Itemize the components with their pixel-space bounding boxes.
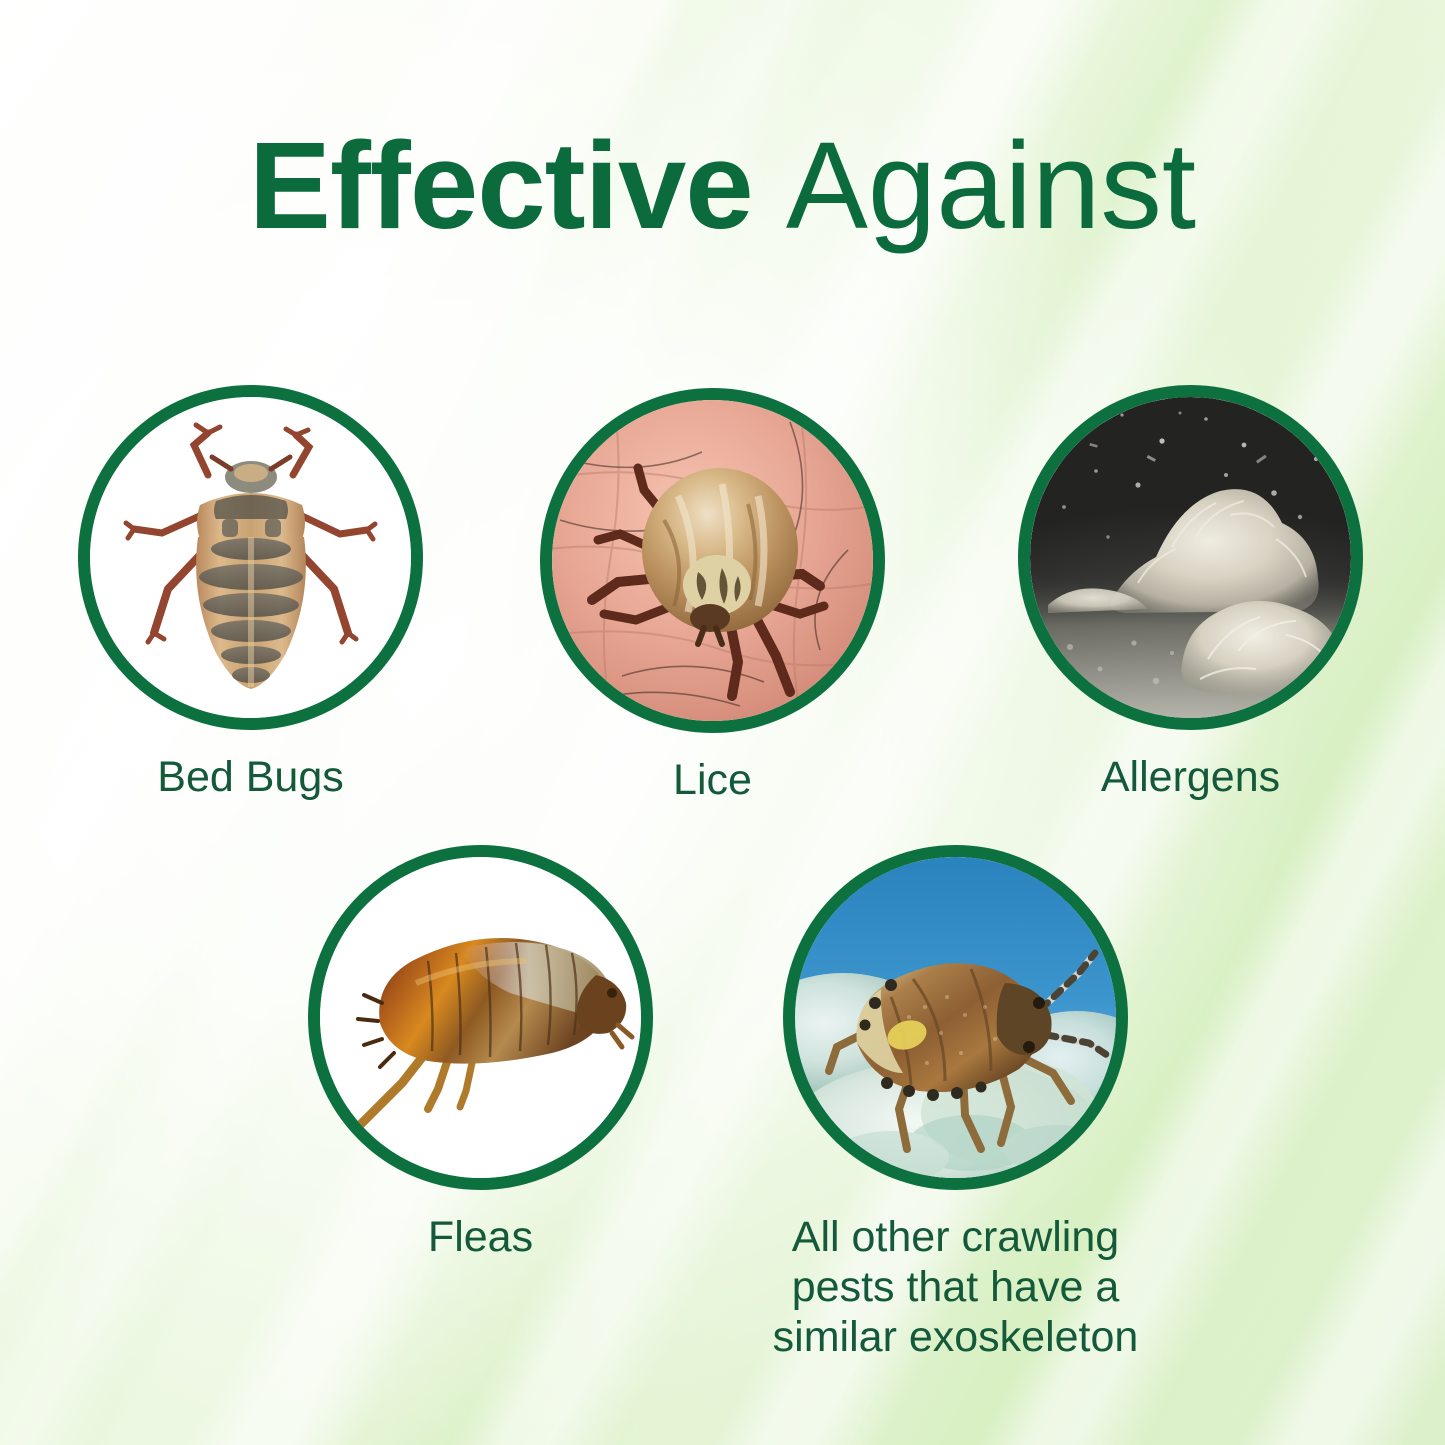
- pest-card-fleas: Fleas: [308, 845, 653, 1190]
- pest-label-fleas: Fleas: [428, 1213, 533, 1263]
- pest-card-allergens: Allergens: [1018, 385, 1363, 730]
- page-title-bold: Effective: [249, 118, 753, 255]
- pest-label-lice: Lice: [673, 756, 752, 806]
- pest-card-bed-bugs: Bed Bugs: [78, 385, 423, 730]
- pest-label-other-pests: All other crawling pests that have a sim…: [741, 1213, 1171, 1363]
- infographic-canvas: Effective Against: [0, 0, 1445, 1445]
- pest-image-circle-other-pests: [783, 845, 1128, 1190]
- pest-image-circle-fleas: [308, 845, 653, 1190]
- pest-image-circle-allergens: [1018, 385, 1363, 730]
- allergens-photo: [1030, 397, 1351, 718]
- pest-label-allergens: Allergens: [1101, 753, 1280, 803]
- pest-label-bed-bugs: Bed Bugs: [157, 753, 343, 803]
- lice-photo: [552, 400, 873, 721]
- pest-image-circle-lice: [540, 388, 885, 733]
- pest-image-circle-bed-bugs: [78, 385, 423, 730]
- flea-photo: [320, 857, 641, 1178]
- stink-bug-photo: [795, 857, 1116, 1178]
- page-title: Effective Against: [0, 122, 1445, 251]
- bed-bug-photo: [90, 397, 411, 718]
- page-title-regular: Against: [786, 118, 1196, 255]
- pest-card-other-pests: All other crawling pests that have a sim…: [783, 845, 1128, 1190]
- pest-card-lice: Lice: [540, 388, 885, 733]
